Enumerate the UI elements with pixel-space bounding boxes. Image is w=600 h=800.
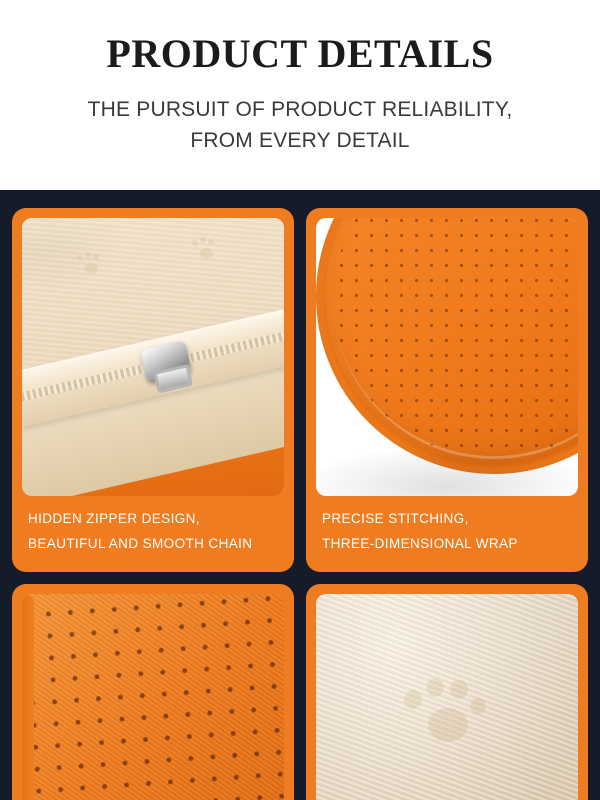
lighting-gradient xyxy=(316,594,578,800)
stitched-edge-photo xyxy=(316,218,578,496)
caption-line-1: PRECISE STITCHING, xyxy=(322,506,574,531)
detail-panel: HIDDEN ZIPPER DESIGN, BEAUTIFUL AND SMOO… xyxy=(0,190,600,800)
perforation-pattern xyxy=(22,594,284,800)
caption-line-1: HIDDEN ZIPPER DESIGN, xyxy=(28,506,280,531)
perforated-mesh-photo xyxy=(22,594,284,800)
page-subtitle-line-1: THE PURSUIT OF PRODUCT RELIABILITY, xyxy=(0,94,600,125)
paw-emboss-icon xyxy=(192,238,218,260)
page-header: PRODUCT DETAILS THE PURSUIT OF PRODUCT R… xyxy=(0,0,600,190)
zipper-slider-icon xyxy=(140,340,192,383)
page-subtitle-line-2: FROM EVERY DETAIL xyxy=(0,125,600,156)
page-title: PRODUCT DETAILS xyxy=(0,0,600,78)
hidden-zipper-photo xyxy=(22,218,284,496)
drop-shadow xyxy=(316,446,578,496)
detail-card-fabric-emboss[interactable] xyxy=(306,584,588,800)
detail-card-grid: HIDDEN ZIPPER DESIGN, BEAUTIFUL AND SMOO… xyxy=(12,208,588,800)
stitched-rim xyxy=(316,218,578,474)
beige-fabric-photo xyxy=(316,594,578,800)
detail-card-precise-stitching[interactable]: PRECISE STITCHING, THREE-DIMENSIONAL WRA… xyxy=(306,208,588,572)
page-subtitle: THE PURSUIT OF PRODUCT RELIABILITY, FROM… xyxy=(0,78,600,156)
caption-line-2: BEAUTIFUL AND SMOOTH CHAIN xyxy=(28,531,280,556)
product-details-page: PRODUCT DETAILS THE PURSUIT OF PRODUCT R… xyxy=(0,0,600,800)
detail-card-caption: PRECISE STITCHING, THREE-DIMENSIONAL WRA… xyxy=(316,496,578,568)
detail-card-perforated-mesh[interactable] xyxy=(12,584,294,800)
caption-line-2: THREE-DIMENSIONAL WRAP xyxy=(322,531,574,556)
detail-card-hidden-zipper[interactable]: HIDDEN ZIPPER DESIGN, BEAUTIFUL AND SMOO… xyxy=(12,208,294,572)
detail-card-caption: HIDDEN ZIPPER DESIGN, BEAUTIFUL AND SMOO… xyxy=(22,496,284,568)
orange-piping-edge xyxy=(22,594,34,800)
paw-emboss-icon xyxy=(77,253,103,275)
